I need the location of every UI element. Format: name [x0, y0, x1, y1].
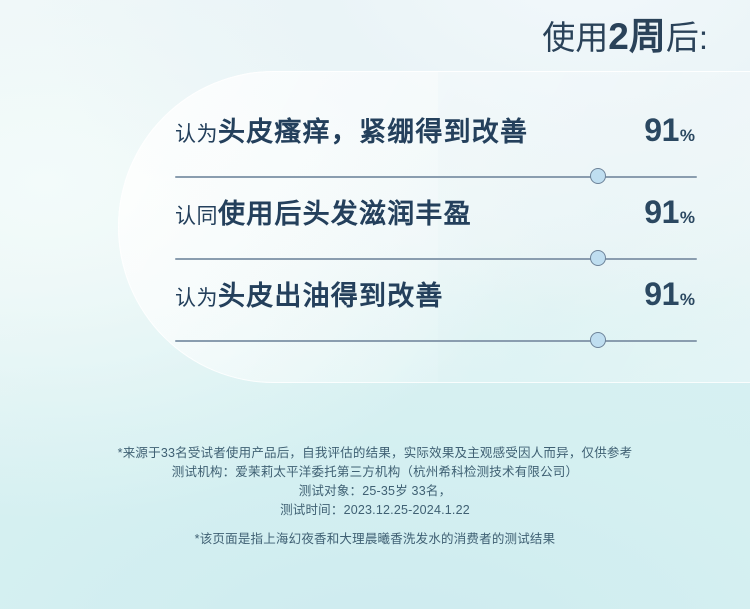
stat-value-unit: % [680, 290, 695, 309]
page-title-text: 使用2周后: [542, 19, 708, 56]
page-title-suffix: 后 [666, 19, 699, 56]
slider-knob[interactable] [590, 332, 606, 348]
slider-track [175, 258, 697, 260]
stat-label: 认同使用后头发滋润丰盈 [175, 191, 472, 228]
stat-row: 认为头皮出油得到改善 91% [175, 272, 697, 354]
page-title-prefix: 使用 [542, 19, 608, 56]
page-title-unit: 周 [629, 16, 666, 57]
stat-value: 91% [644, 272, 697, 310]
stat-label-main: 头皮瘙痒，紧绷得到改善 [218, 117, 528, 147]
slider-track [175, 176, 697, 178]
footnote-line-source: *来源于33名受试者使用产品后，自我评估的结果，实际效果及主观感受因人而异，仅供… [0, 444, 750, 463]
stat-value: 91% [644, 108, 697, 146]
page-title-colon: : [699, 19, 708, 56]
footnote-block: *来源于33名受试者使用产品后，自我评估的结果，实际效果及主观感受因人而异，仅供… [0, 444, 750, 520]
slider-track [175, 340, 697, 342]
stat-value-unit: % [680, 126, 695, 145]
stats-list: 认为头皮瘙痒，紧绷得到改善 91% 认同使用后头发滋润丰盈 91% 认为头皮出油… [175, 108, 697, 354]
stat-label-main: 头皮出油得到改善 [218, 281, 444, 311]
footnote-line-scope: *该页面是指上海幻夜香和大理晨曦香洗发水的消费者的测试结果 [0, 528, 750, 547]
stat-row-top: 认为头皮出油得到改善 91% [175, 272, 697, 326]
stat-label-prefix: 认同 [175, 205, 218, 228]
stat-label-main: 使用后头发滋润丰盈 [218, 199, 472, 229]
footnote-line-subjects: 测试对象：25-35岁 33名， [0, 482, 750, 501]
page-title: 使用2周后: [542, 18, 708, 55]
stat-slider[interactable] [175, 330, 697, 352]
stat-label-prefix: 认为 [175, 287, 218, 310]
slider-knob[interactable] [590, 168, 606, 184]
stat-value-number: 91 [644, 112, 679, 148]
footnote-line-institution: 测试机构：爱茉莉太平洋委托第三方机构（杭州希科检测技术有限公司） [0, 463, 750, 482]
stat-value: 91% [644, 190, 697, 228]
stat-slider[interactable] [175, 248, 697, 270]
stat-row-top: 认为头皮瘙痒，紧绷得到改善 91% [175, 108, 697, 162]
stat-value-number: 91 [644, 194, 679, 230]
slider-knob[interactable] [590, 250, 606, 266]
footnote-line-period: 测试时间：2023.12.25-2024.1.22 [0, 501, 750, 520]
stat-label: 认为头皮瘙痒，紧绷得到改善 [175, 109, 528, 146]
stat-row: 认为头皮瘙痒，紧绷得到改善 91% [175, 108, 697, 190]
stat-value-unit: % [680, 208, 695, 227]
stat-slider[interactable] [175, 166, 697, 188]
stat-row: 认同使用后头发滋润丰盈 91% [175, 190, 697, 272]
page-title-number: 2 [608, 16, 629, 57]
stat-row-top: 认同使用后头发滋润丰盈 91% [175, 190, 697, 244]
stat-label: 认为头皮出油得到改善 [175, 273, 444, 310]
stat-value-number: 91 [644, 276, 679, 312]
promo-page: 使用2周后: 认为头皮瘙痒，紧绷得到改善 91% 认同使用后头发滋润丰盈 91% [0, 0, 750, 609]
stat-label-prefix: 认为 [175, 123, 218, 146]
